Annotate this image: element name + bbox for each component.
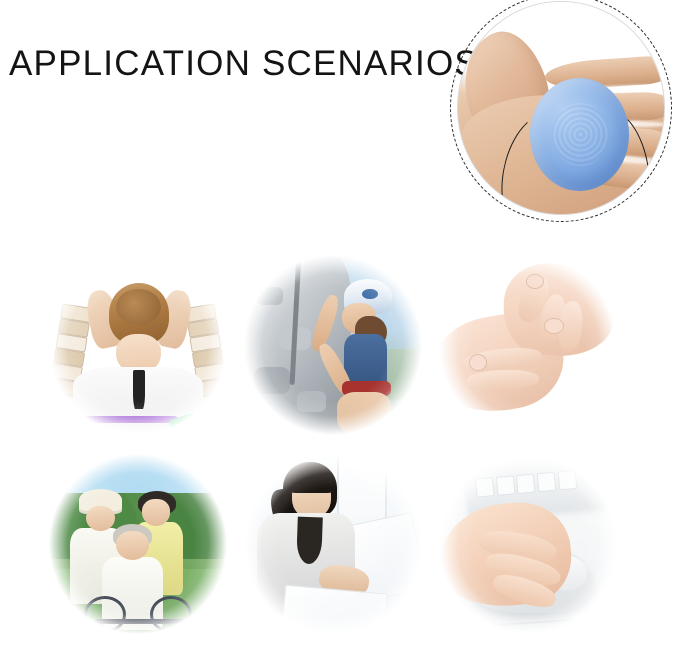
rock-detail: [297, 391, 326, 413]
keyboard-key: [516, 473, 536, 494]
scenario-photo-rock-climbing: [243, 254, 423, 436]
scenario-photo-student-stress: [48, 254, 228, 436]
fingernail: [469, 354, 487, 371]
keyboard-key: [495, 475, 515, 496]
scenario-photo-computer-mouse: [438, 453, 618, 635]
scene-hand-massage: [438, 254, 618, 436]
hero-photo-frame: [457, 1, 665, 215]
stress-ball: [530, 78, 629, 190]
scene-elderly-care: [48, 453, 228, 635]
keyboard-key: [536, 471, 556, 492]
desk-edge: [438, 616, 618, 631]
scene-student-stress: [48, 254, 228, 436]
climber-leg: [337, 392, 391, 436]
student-hair: [116, 289, 161, 325]
scene-computer-mouse: [438, 453, 618, 635]
hair-fringe: [290, 477, 333, 493]
fingernail: [526, 274, 544, 289]
scenario-photo-office-work: [243, 453, 423, 635]
keyboard-key: [557, 469, 577, 490]
document-sheet: [281, 585, 388, 635]
rock-detail: [257, 287, 282, 305]
page-title: APPLICATION SCENARIOS: [9, 42, 479, 86]
scene-rock-climbing: [243, 254, 423, 436]
keyboard-key: [475, 477, 495, 498]
scene-office-work: [243, 453, 423, 635]
purple-pen: [84, 416, 178, 423]
scenario-photo-hand-massage: [438, 254, 618, 436]
wheelchair-wheel: [150, 596, 192, 633]
student-tie: [133, 370, 146, 414]
wheelchair-wheel: [84, 596, 126, 633]
elder-man-face: [86, 506, 115, 531]
application-scenarios-page: APPLICATION SCENARIOS: [0, 0, 679, 659]
rock-detail: [254, 367, 290, 394]
hero-product-circle: [450, 0, 672, 222]
caregiver-face: [142, 499, 171, 526]
scenario-photo-elderly-care: [48, 453, 228, 635]
